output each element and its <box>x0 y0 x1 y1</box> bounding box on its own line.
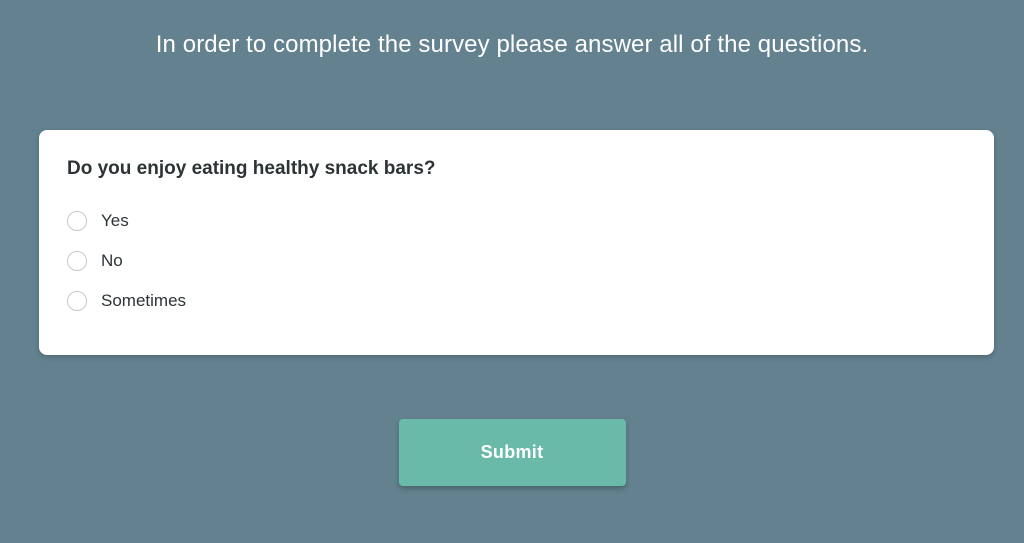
question-text: Do you enjoy eating healthy snack bars? <box>67 157 436 181</box>
radio-option-label: Sometimes <box>101 290 186 312</box>
radio-group: Yes No Sometimes <box>67 206 927 316</box>
question-card: Do you enjoy eating healthy snack bars? … <box>39 130 994 355</box>
radio-unchecked-icon[interactable] <box>67 291 87 311</box>
radio-option-sometimes[interactable]: Sometimes <box>67 286 927 316</box>
radio-option-label: No <box>101 250 123 272</box>
submit-area: Submit <box>0 419 1024 486</box>
validation-message: In order to complete the survey please a… <box>156 30 868 60</box>
radio-option-yes[interactable]: Yes <box>67 206 927 236</box>
radio-unchecked-icon[interactable] <box>67 251 87 271</box>
radio-unchecked-icon[interactable] <box>67 211 87 231</box>
submit-button[interactable]: Submit <box>399 419 626 486</box>
radio-option-no[interactable]: No <box>67 246 927 276</box>
validation-banner: In order to complete the survey please a… <box>0 30 1024 60</box>
radio-option-label: Yes <box>101 210 129 232</box>
survey-page: In order to complete the survey please a… <box>0 0 1024 543</box>
